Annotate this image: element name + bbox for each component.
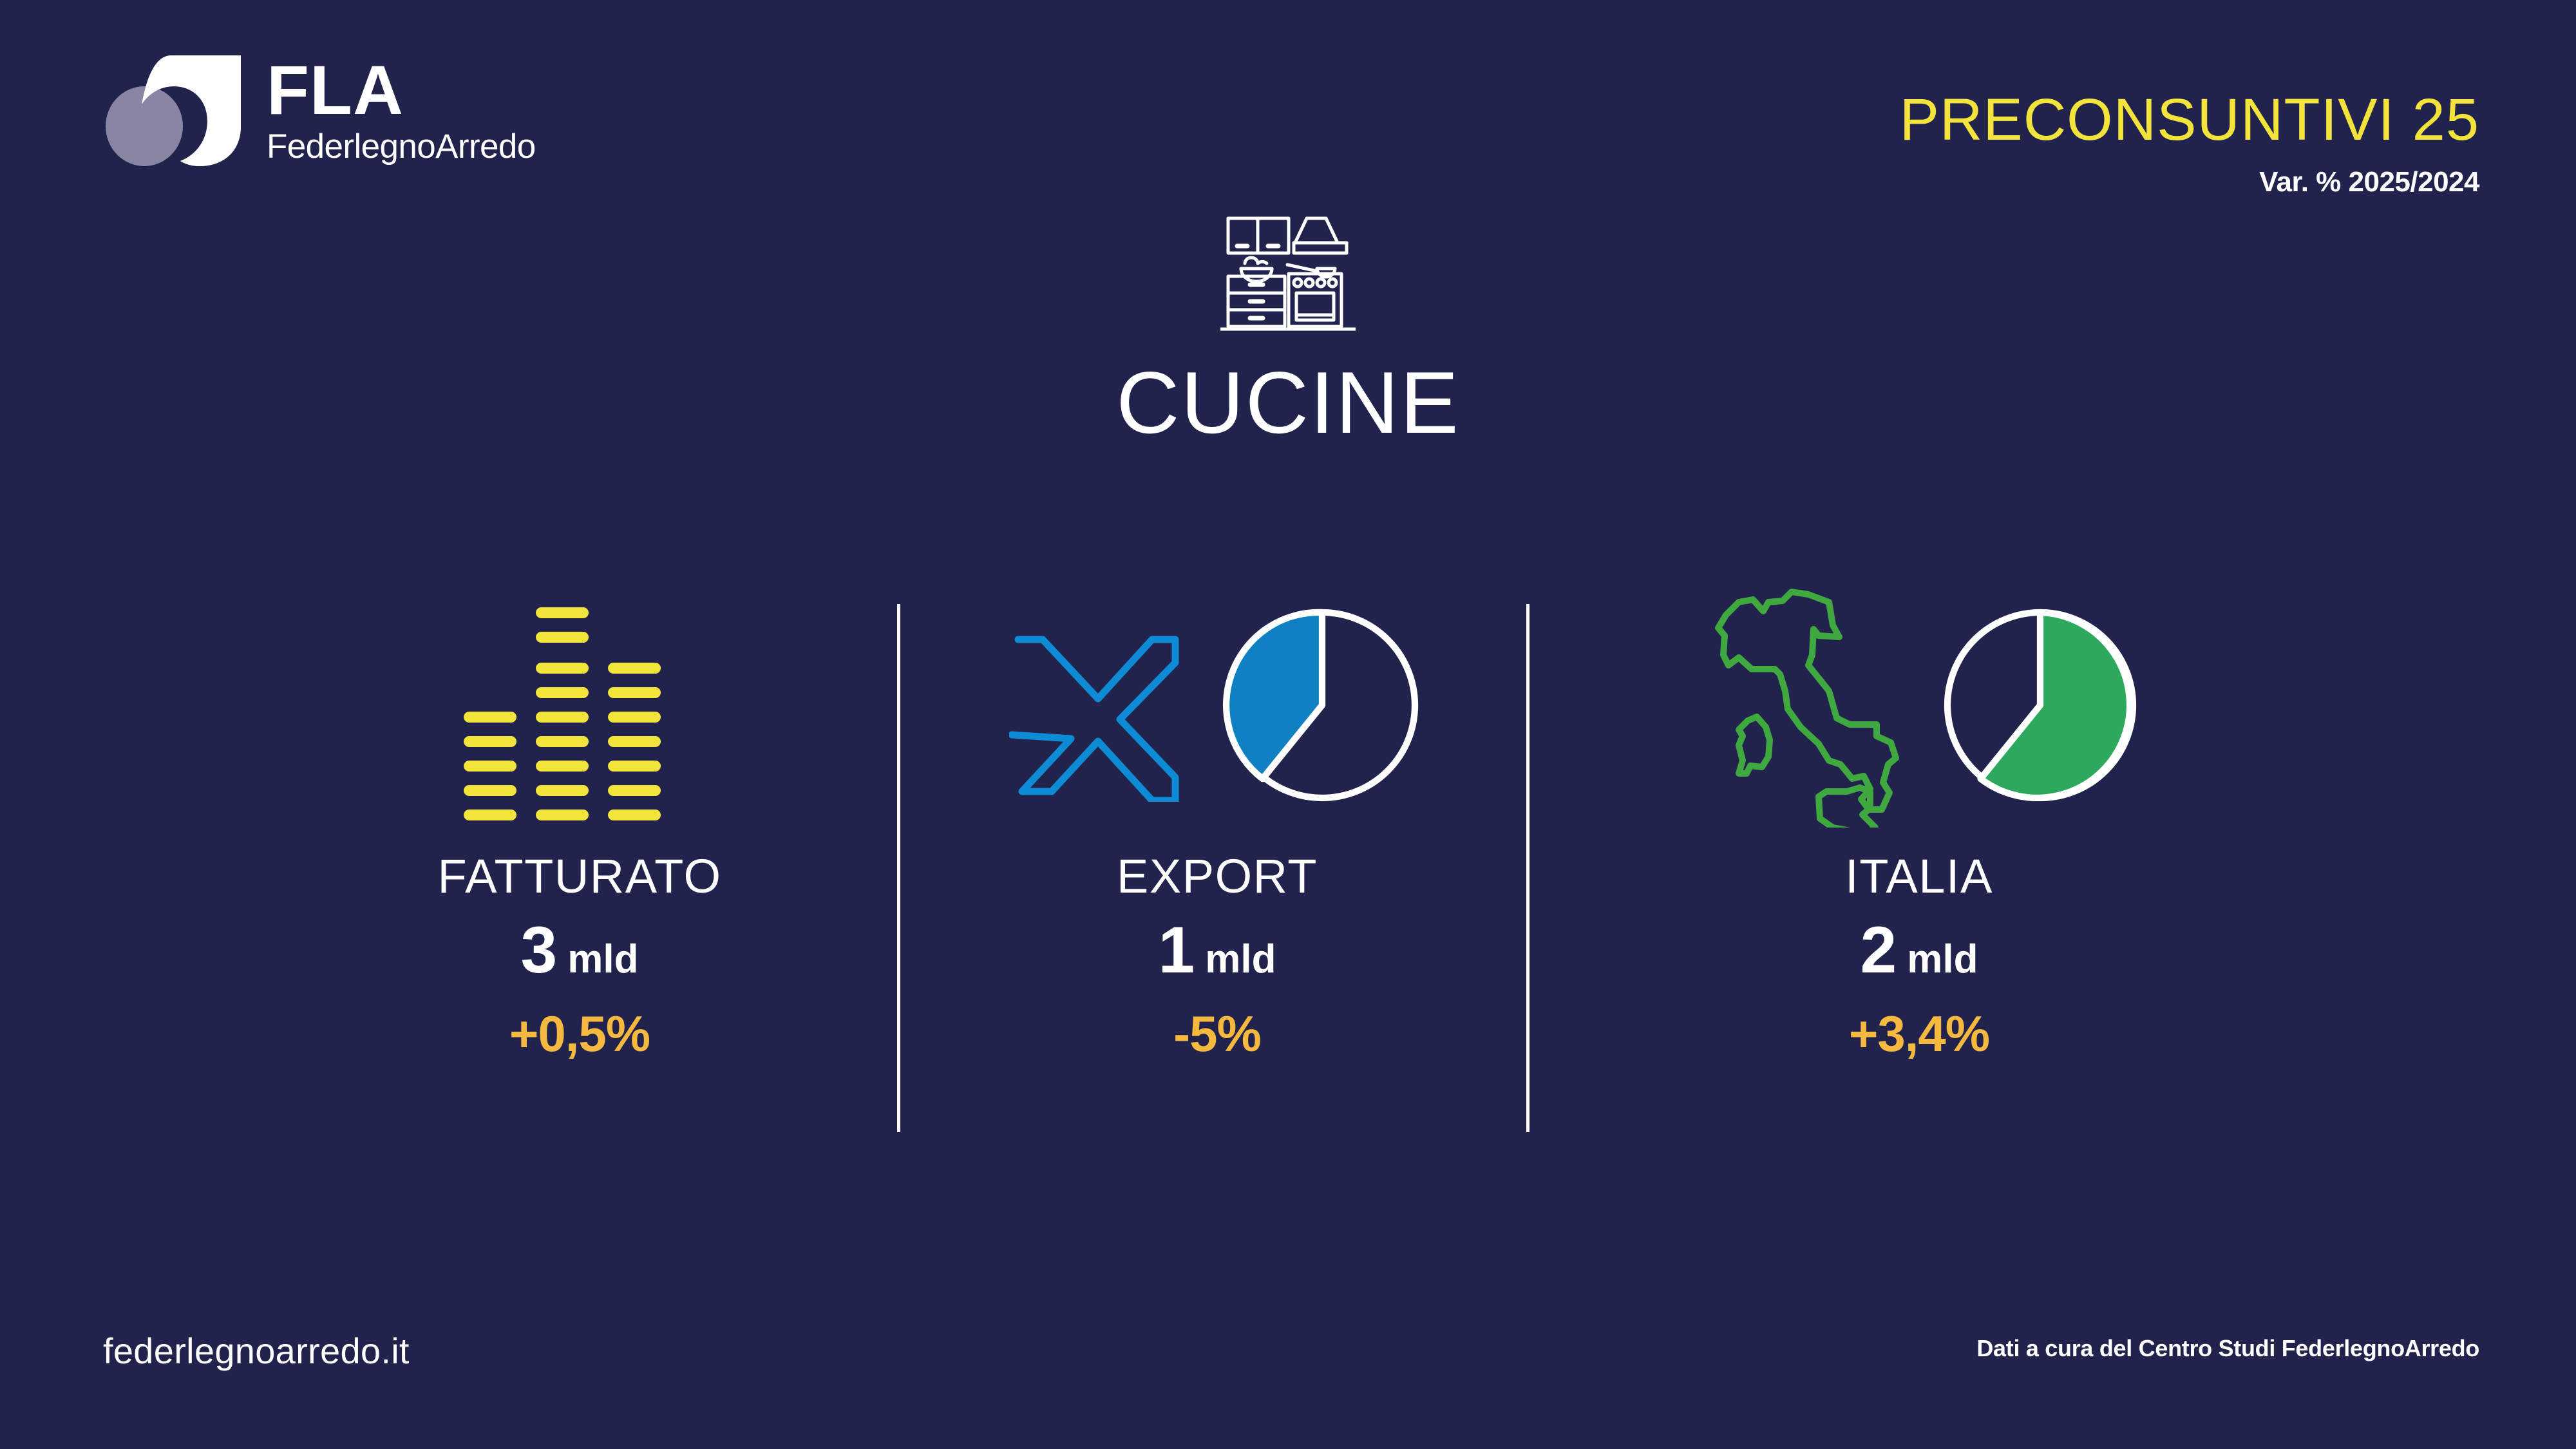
column-divider bbox=[897, 604, 900, 1132]
bar-chart-icon bbox=[464, 583, 696, 828]
italy-map-icon bbox=[1695, 583, 1901, 828]
infographic-page: FLA FederlegnoArredo PRECONSUNTIVI 25 Va… bbox=[0, 0, 2576, 1449]
metrics-row: FATTURATO 3 mld +0,5% EXPORT 1 bbox=[0, 599, 2576, 1140]
panel-visual bbox=[1695, 599, 2143, 811]
page-title: PRECONSUNTIVI 25 bbox=[1900, 90, 2479, 149]
italy-pie-chart bbox=[1937, 602, 2143, 808]
metric-panel-italia: ITALIA 2 mld +3,4% bbox=[1597, 599, 2241, 1140]
panel-visual bbox=[464, 599, 696, 811]
panel-label: ITALIA bbox=[1845, 853, 1993, 900]
panel-label: EXPORT bbox=[1117, 853, 1318, 900]
panel-delta: +0,5% bbox=[509, 1009, 650, 1059]
brand-logo: FLA FederlegnoArredo bbox=[97, 50, 536, 169]
panel-amount: 1 bbox=[1159, 917, 1195, 983]
category-block: CUCINE bbox=[0, 209, 2576, 446]
metric-panel-fatturato: FATTURATO 3 mld +0,5% bbox=[322, 599, 837, 1140]
panel-visual bbox=[1009, 599, 1425, 811]
panel-value: 2 mld bbox=[1861, 917, 1978, 983]
logo-name: FLA bbox=[267, 56, 536, 124]
header-title-block: PRECONSUNTIVI 25 Var. % 2025/2024 bbox=[1900, 90, 2479, 198]
export-x-icon bbox=[1009, 609, 1183, 802]
kitchen-icon bbox=[1220, 209, 1356, 332]
panel-unit: mld bbox=[567, 940, 638, 980]
export-pie-chart bbox=[1219, 602, 1425, 808]
panel-unit: mld bbox=[1205, 940, 1276, 980]
column-divider bbox=[1526, 604, 1529, 1132]
footer-credit: Dati a cura del Centro Studi FederlegnoA… bbox=[1976, 1337, 2479, 1360]
fla-logo-mark bbox=[97, 50, 245, 169]
metric-panel-export: EXPORT 1 mld -5% bbox=[927, 599, 1507, 1140]
category-title: CUCINE bbox=[1116, 359, 1459, 446]
panel-delta: +3,4% bbox=[1849, 1009, 1989, 1059]
panel-delta: -5% bbox=[1173, 1009, 1261, 1059]
logo-wordmark: FLA FederlegnoArredo bbox=[267, 56, 536, 164]
footer-website[interactable]: federlegnoarredo.it bbox=[103, 1333, 410, 1369]
panel-unit: mld bbox=[1907, 940, 1978, 980]
page-subtitle: Var. % 2025/2024 bbox=[1900, 166, 2479, 198]
panel-amount: 2 bbox=[1861, 917, 1897, 983]
panel-value: 1 mld bbox=[1159, 917, 1276, 983]
logo-subtitle: FederlegnoArredo bbox=[267, 129, 536, 164]
panel-amount: 3 bbox=[521, 917, 558, 983]
panel-label: FATTURATO bbox=[437, 853, 721, 900]
panel-value: 3 mld bbox=[521, 917, 639, 983]
